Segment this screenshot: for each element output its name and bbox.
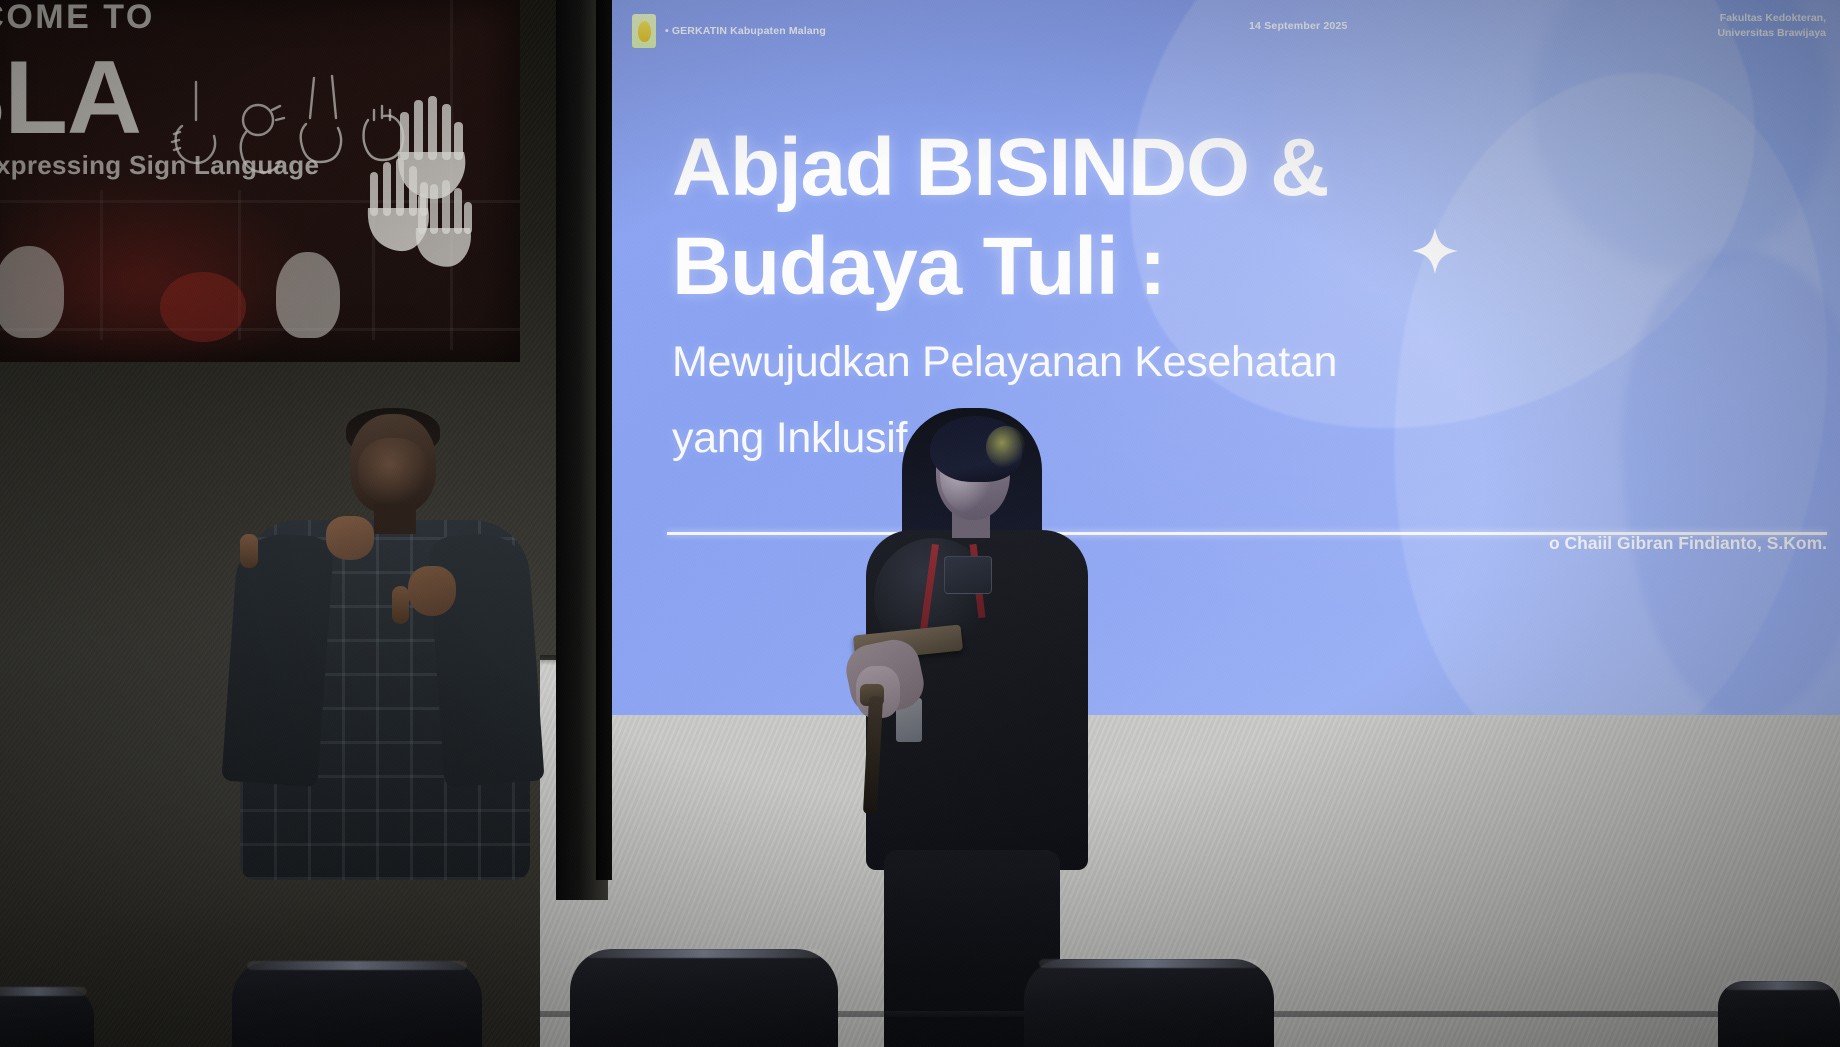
auditorium-chair xyxy=(0,987,94,1047)
slide-header: •GERKATIN Kabupaten Malang 14 September … xyxy=(612,0,1840,54)
presenter-credit-label: o Chaiil Gibran Findianto, S.Kom. xyxy=(667,533,1835,554)
affiliation-line-2: Universitas Brawijaya xyxy=(1717,26,1826,41)
interpreter-finger-lower xyxy=(392,586,409,624)
bullet-glyph: • xyxy=(665,25,669,37)
banner-decor-blob xyxy=(160,272,246,342)
presenter-hair-highlight xyxy=(986,426,1026,468)
auditorium-chair xyxy=(570,949,838,1047)
auditorium-chair xyxy=(1718,981,1840,1047)
interpreter-signing-hand-upper xyxy=(326,516,374,560)
hand-sign-v-icon xyxy=(292,70,354,172)
venue-banner: LCOME TO SLA e Expressing Sign Language xyxy=(0,0,520,362)
auditorium-chair xyxy=(232,961,482,1047)
screen-left-edge xyxy=(596,0,612,880)
interpreter-signing-hand-lower xyxy=(408,566,456,616)
slide-title-line-1: Abjad BISINDO & xyxy=(672,118,1472,217)
hand-sign-d-icon xyxy=(166,76,226,172)
auditorium-chair xyxy=(1024,959,1274,1047)
slide-date-label: 14 September 2025 xyxy=(1249,20,1348,32)
projected-slide: •GERKATIN Kabupaten Malang 14 September … xyxy=(612,0,1840,715)
interpreter-finger-upper xyxy=(240,534,258,568)
presenter-with-microphone xyxy=(848,398,1098,1047)
slide-subtitle-line-1: Mewujudkan Pelayanan Kesehatan xyxy=(672,334,1472,391)
affiliation-line-1: Fakultas Kedokteran, xyxy=(1717,11,1826,26)
interpreter-arm-left xyxy=(221,531,334,787)
sign-language-interpreter xyxy=(222,408,542,878)
org-name-label: •GERKATIN Kabupaten Malang xyxy=(665,25,826,37)
hand-sign-o-icon xyxy=(228,94,290,184)
banner-acronym-text: SLA xyxy=(0,46,141,150)
gerkatin-emblem-logo xyxy=(632,14,656,48)
interpreter-face xyxy=(358,438,428,504)
org-branding: •GERKATIN Kabupaten Malang xyxy=(632,14,826,48)
banner-decor-blob xyxy=(276,252,340,338)
open-palm-icon xyxy=(408,176,478,276)
presenter-name-badge xyxy=(944,556,992,594)
interpreter-neck xyxy=(374,504,416,534)
photo-canvas: LCOME TO SLA e Expressing Sign Language xyxy=(0,0,1840,1047)
org-name-text: GERKATIN Kabupaten Malang xyxy=(672,25,826,37)
banner-decor-blob xyxy=(0,246,64,338)
banner-welcome-text: LCOME TO xyxy=(0,0,155,37)
slide-title-line-2: Budaya Tuli : xyxy=(672,217,1472,316)
slide-affiliation: Fakultas Kedokteran, Universitas Brawija… xyxy=(1717,11,1826,41)
